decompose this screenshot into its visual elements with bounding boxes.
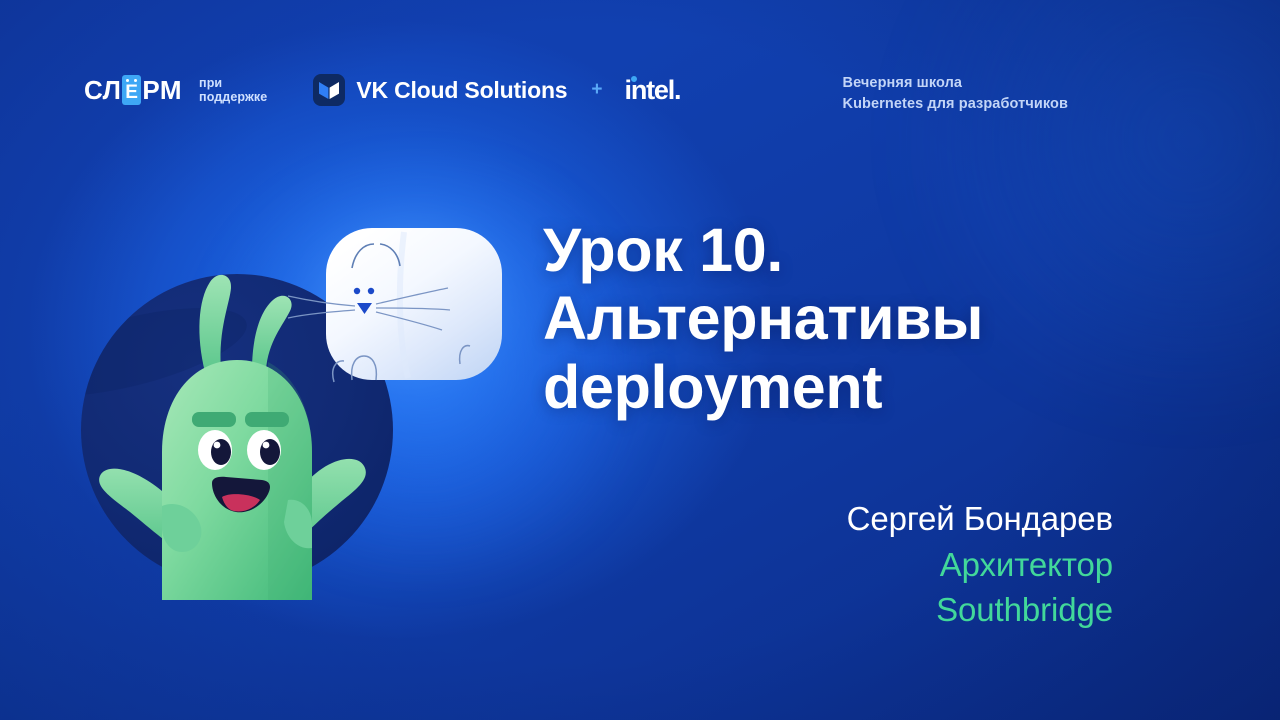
vk-cloud-book-icon [313, 74, 345, 106]
cube-body [326, 228, 502, 380]
slerm-yo-badge-icon: Е [122, 75, 141, 105]
vk-cloud-label: VK Cloud Solutions [356, 77, 567, 104]
slide-header: СЛ Е РМ при поддержке [0, 0, 1280, 148]
cube-eye-left [354, 288, 360, 294]
page-title: Урок 10. Альтернативы deployment [543, 216, 1183, 421]
slerm-logo: СЛ Е РМ при поддержке [84, 75, 267, 105]
speaker-role: Архитектор [553, 542, 1113, 588]
intel-logo: intel . [625, 77, 681, 104]
title-line-2: Альтернативы [543, 284, 1183, 352]
school-line2: Kubernetes для разработчиков [843, 94, 1068, 115]
slerm-support-line2: поддержке [199, 90, 267, 104]
mascot-eyebrow-right [245, 412, 289, 427]
partner-logo-row: СЛ Е РМ при поддержке [84, 74, 680, 106]
title-line-3: deployment [543, 353, 1183, 421]
plus-separator: + [591, 79, 602, 101]
speaker-organization: Southbridge [553, 587, 1113, 633]
school-line1: Вечерняя школа [843, 73, 1068, 94]
school-title: Вечерняя школа Kubernetes для разработчи… [843, 73, 1068, 115]
mascot-eyebrow-left [192, 412, 236, 427]
slerm-wordmark: СЛ Е РМ [84, 75, 182, 105]
speaker-name: Сергей Бондарев [553, 497, 1113, 542]
slerm-part2: РМ [142, 77, 182, 103]
intel-dot-icon [631, 76, 637, 82]
cube-eye-right [368, 288, 374, 294]
speaker-block: Сергей Бондарев Архитектор Southbridge [553, 497, 1113, 633]
slerm-part1: СЛ [84, 77, 121, 103]
intel-period: . [674, 77, 680, 104]
slerm-yo-dots-icon [126, 79, 137, 82]
slerm-support-text: при поддержке [199, 76, 267, 104]
title-line-1: Урок 10. [543, 216, 1183, 284]
slide-canvas: СЛ Е РМ при поддержке [0, 0, 1280, 720]
slerm-yo-letter: Е [125, 83, 138, 102]
vk-cloud-logo: VK Cloud Solutions [313, 74, 567, 106]
slerm-support-line1: при [199, 76, 267, 90]
